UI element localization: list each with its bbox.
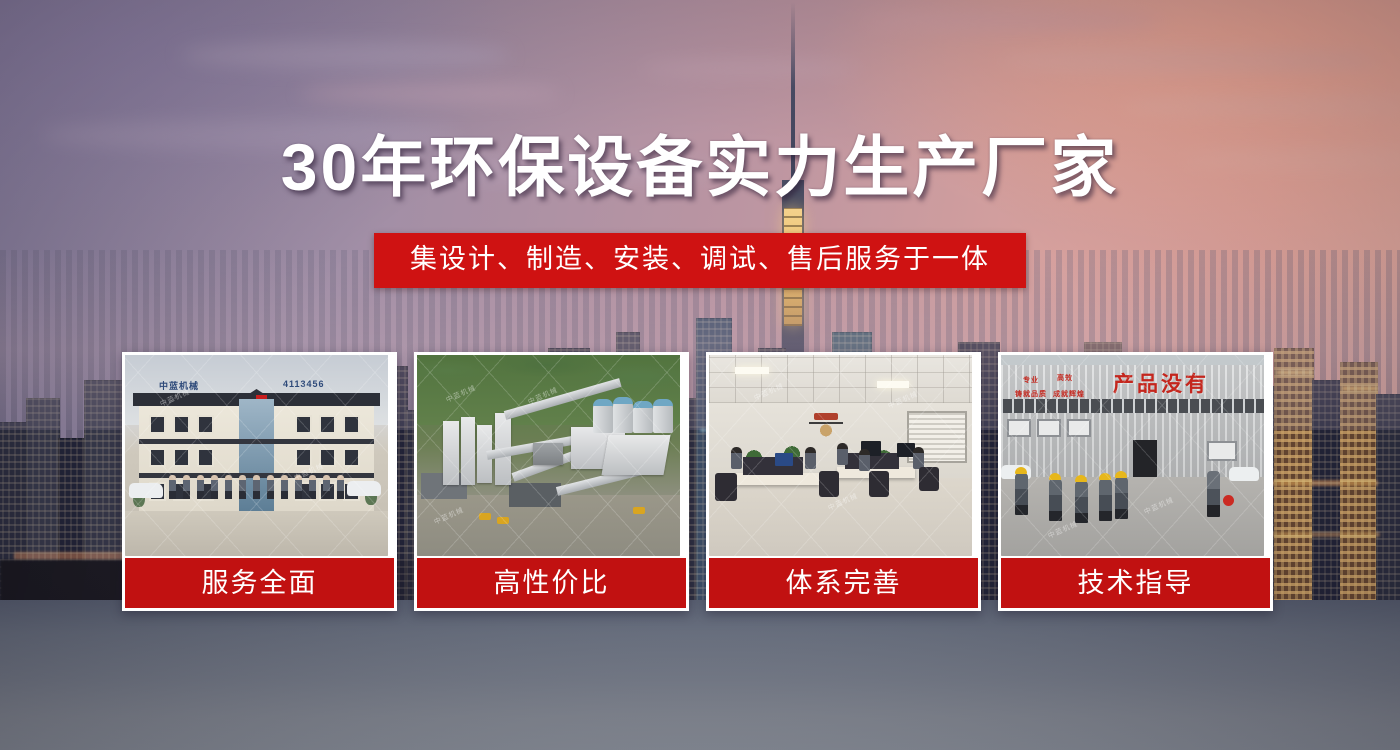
feature-card[interactable]: 中蓝机械 4113456: [122, 352, 397, 611]
feature-card[interactable]: 中蓝机械 中蓝机械 中蓝机械 体系完善: [706, 352, 981, 611]
factory-sign-text: 产品没有: [1113, 368, 1209, 398]
banner-subtitle: 集设计、制造、安装、调试、售后服务于一体: [374, 233, 1026, 288]
factory-door: [1133, 440, 1157, 478]
card-caption: 高性价比: [417, 558, 686, 608]
feature-card-row: 中蓝机械 4113456: [122, 352, 1278, 611]
building-phone-text: 4113456: [283, 379, 325, 389]
company-headquarters-photo: 中蓝机械 4113456: [125, 355, 388, 556]
red-helmet-icon: [1223, 495, 1234, 506]
card-caption: 技术指导: [1001, 558, 1270, 608]
subtitle-wrapper: 集设计、制造、安装、调试、售后服务于一体: [0, 233, 1400, 288]
office-workspace-photo: 中蓝机械 中蓝机械 中蓝机械: [709, 355, 972, 556]
factory-slogan: 成就辉煌: [1053, 389, 1085, 399]
factory-slogan: 铸就品质: [1015, 389, 1047, 399]
feature-card[interactable]: 产品没有 专业 高效 铸就品质 成就辉煌: [998, 352, 1273, 611]
feature-card[interactable]: 中蓝机械 中蓝机械 中蓝机械 高性价比: [414, 352, 689, 611]
card-caption: 服务全面: [125, 558, 394, 608]
promo-banner: 30年环保设备实力生产厂家 集设计、制造、安装、调试、售后服务于一体 中蓝机械 …: [0, 0, 1400, 750]
factory-slogan: 专业: [1023, 375, 1039, 385]
factory-slogan: 高效: [1057, 373, 1073, 383]
banner-headline: 30年环保设备实力生产厂家: [0, 132, 1400, 203]
aerial-production-plant-photo: 中蓝机械 中蓝机械 中蓝机械: [417, 355, 680, 556]
factory-technical-training-photo: 产品没有 专业 高效 铸就品质 成就辉煌: [1001, 355, 1264, 556]
card-caption: 体系完善: [709, 558, 978, 608]
